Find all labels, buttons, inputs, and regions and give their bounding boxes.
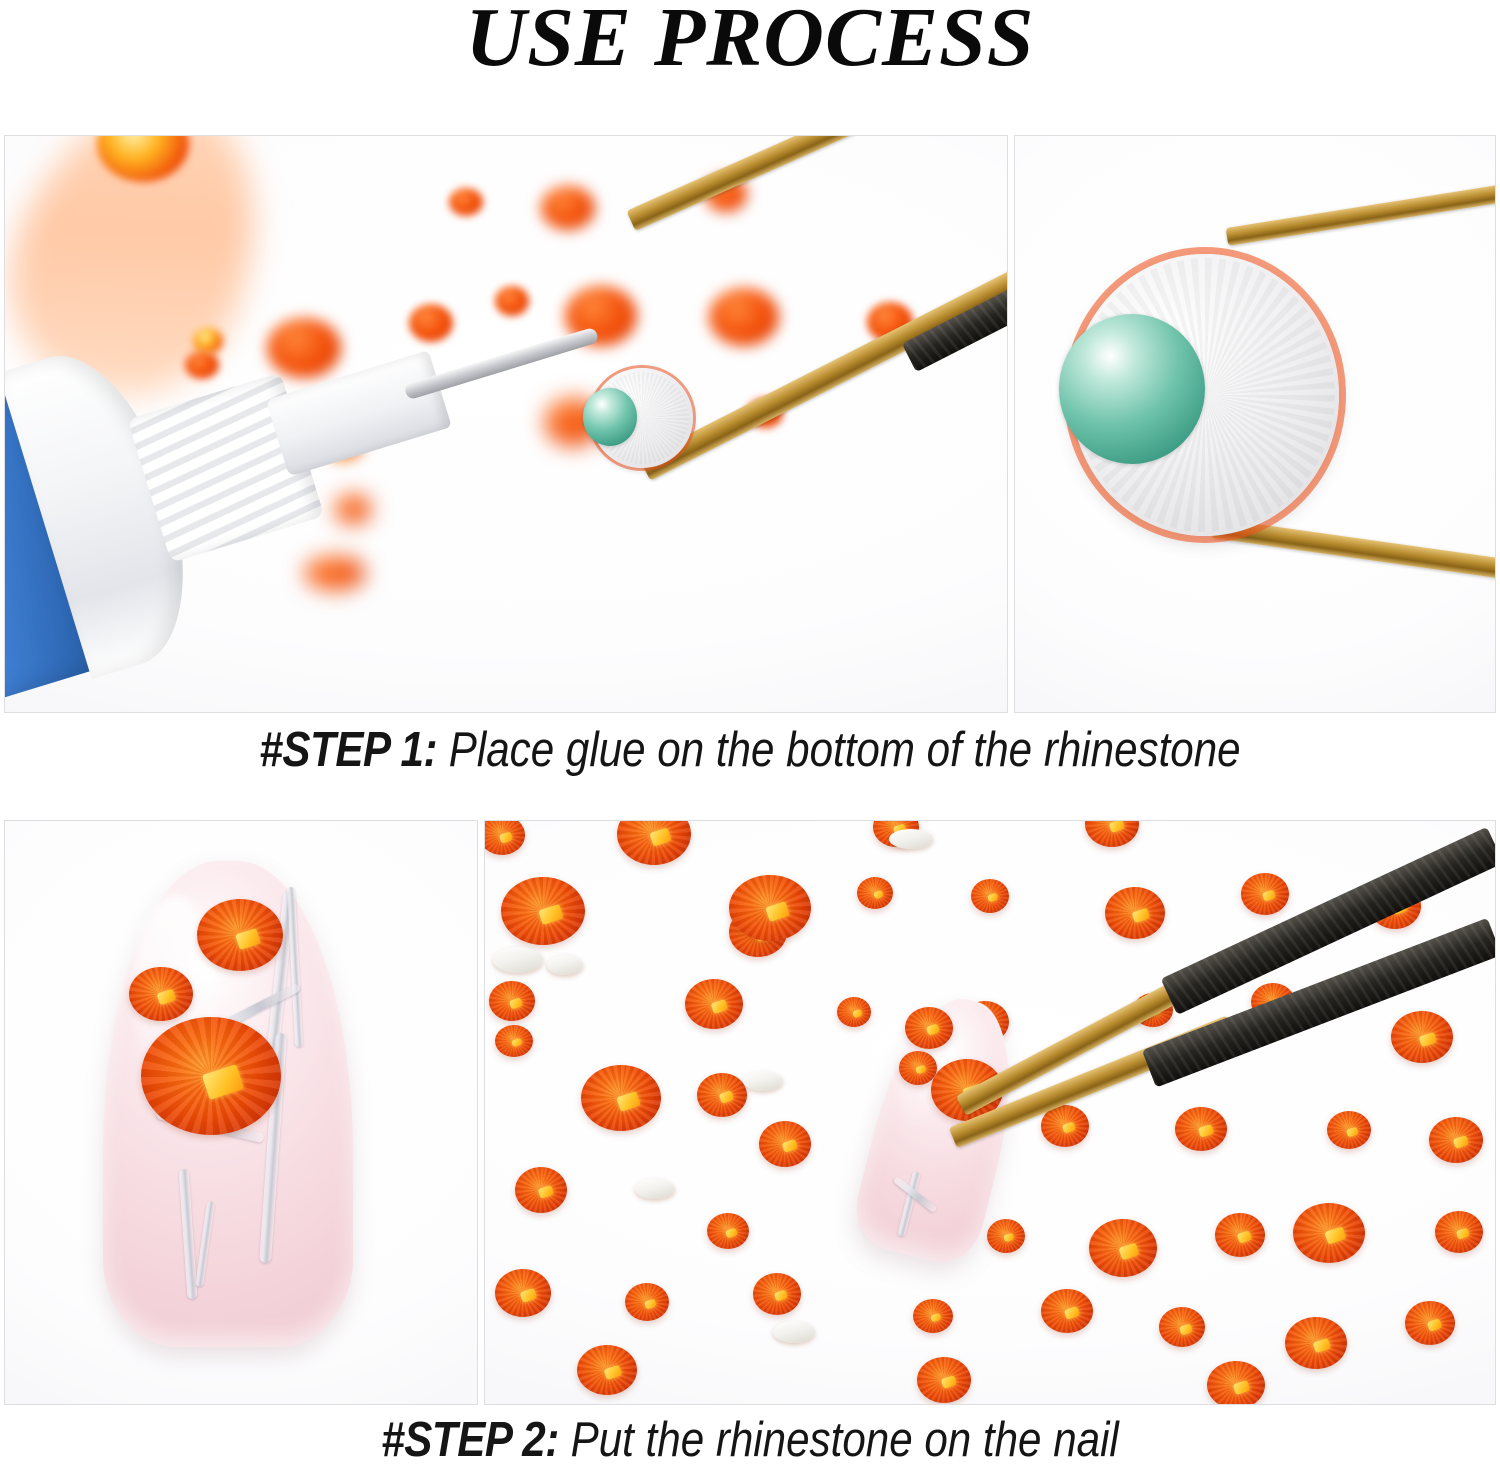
rhinestone-foil-back <box>743 1071 783 1091</box>
loose-rhinestone <box>1105 887 1165 939</box>
loose-rhinestone <box>917 1357 971 1403</box>
page-title: USE PROCESS <box>0 0 1500 80</box>
loose-rhinestone <box>495 1269 551 1317</box>
step-1-text: Place glue on the bottom of the rhinesto… <box>437 723 1241 777</box>
nail-rhinestone <box>905 1007 953 1049</box>
step-2-caption: #STEP 2: Put the rhinestone on the nail <box>105 1412 1395 1468</box>
loose-rhinestone <box>913 1299 953 1333</box>
loose-rhinestone <box>501 877 585 945</box>
glue-droplet <box>583 388 637 446</box>
loose-rhinestone <box>697 1073 747 1117</box>
nail-rhinestone <box>197 899 283 971</box>
loose-rhinestone <box>857 877 893 909</box>
step-2-text: Put the rhinestone on the nail <box>559 1413 1119 1467</box>
nail-rhinestone <box>129 967 193 1021</box>
rhinestone-foil-back <box>773 1321 815 1343</box>
loose-rhinestone <box>495 1025 533 1057</box>
rhinestone-foil-back <box>493 947 543 973</box>
use-process-infographic: USE PROCESS <box>0 0 1500 1466</box>
loose-rhinestone <box>1175 1107 1227 1151</box>
loose-rhinestone <box>1327 1111 1371 1149</box>
loose-rhinestone <box>753 1273 801 1315</box>
loose-rhinestone <box>1391 1011 1453 1063</box>
loose-rhinestone <box>987 1219 1025 1253</box>
loose-rhinestone <box>971 879 1009 913</box>
rhinestone-bokeh <box>409 304 453 342</box>
loose-rhinestone <box>837 997 871 1027</box>
loose-rhinestone <box>1405 1301 1455 1345</box>
loose-rhinestone <box>729 875 811 941</box>
rhinestone-foil-back <box>889 829 933 849</box>
rhinestone-bokeh <box>449 188 483 216</box>
loose-rhinestone <box>515 1167 567 1213</box>
loose-rhinestone <box>1285 1317 1347 1369</box>
loose-rhinestone <box>581 1065 661 1131</box>
placing-rhinestone-photo <box>484 820 1496 1405</box>
nail-rhinestone <box>141 1017 281 1135</box>
loose-rhinestone <box>1159 1307 1205 1347</box>
loose-rhinestone <box>759 1121 811 1167</box>
glue-droplet <box>1059 314 1205 464</box>
step-2-image-row <box>4 820 1496 1405</box>
rhinestone-closeup-photo <box>1014 135 1496 713</box>
step-1-caption: #STEP 1: Place glue on the bottom of the… <box>105 722 1395 778</box>
glue-bottle-tip <box>266 350 452 476</box>
loose-rhinestone <box>1215 1213 1265 1257</box>
loose-rhinestone <box>1429 1117 1483 1163</box>
rhinestone-foil-back <box>547 955 583 975</box>
rhinestone-bokeh <box>541 186 595 230</box>
loose-rhinestone <box>625 1283 669 1321</box>
glue-applying-photo: R <box>4 135 1008 713</box>
loose-rhinestone <box>489 981 535 1021</box>
loose-rhinestone <box>707 1213 749 1249</box>
loose-rhinestone <box>1089 1219 1157 1277</box>
rhinestone-bokeh <box>495 286 529 316</box>
loose-rhinestone <box>1207 1361 1265 1405</box>
loose-rhinestone <box>577 1345 637 1395</box>
rhinestone-bokeh <box>709 288 779 346</box>
loose-rhinestone <box>1041 1289 1093 1333</box>
loose-rhinestone <box>1293 1203 1365 1263</box>
loose-rhinestone <box>1241 873 1289 915</box>
step-1-label: #STEP 1: <box>259 723 437 777</box>
loose-rhinestone <box>685 979 743 1029</box>
nail-rhinestone <box>899 1051 937 1085</box>
step-1-image-row: R <box>4 135 1496 713</box>
rhinestone-foil-back <box>635 1179 675 1199</box>
step-2-label: #STEP 2: <box>381 1413 559 1467</box>
finished-nail-photo <box>4 820 478 1405</box>
loose-rhinestone <box>1435 1211 1483 1253</box>
